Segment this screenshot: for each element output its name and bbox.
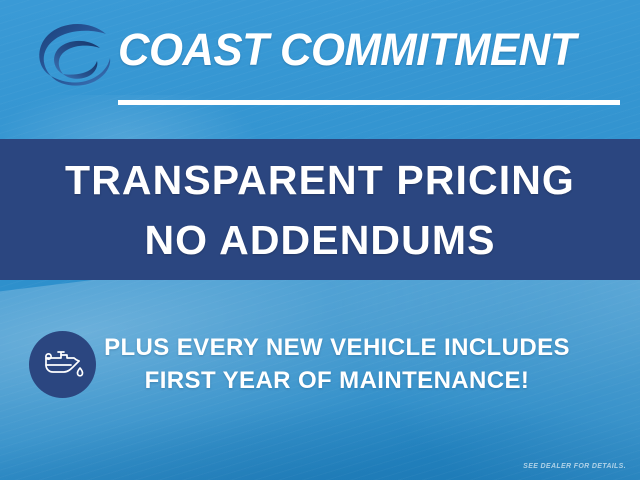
header-divider (118, 100, 620, 105)
promo-row: PLUS EVERY NEW VEHICLE INCLUDES FIRST YE… (0, 318, 640, 410)
promo-badge (29, 331, 96, 398)
oil-can-icon (41, 346, 85, 383)
headline-line-1: TRANSPARENT PRICING (65, 150, 575, 210)
ad-header: COAST COMMITMENT (0, 0, 640, 139)
page-title: COAST COMMITMENT (118, 22, 576, 78)
coast-commitment-ad: COAST COMMITMENT TRANSPARENT PRICING NO … (0, 0, 640, 480)
coast-wave-logo-icon (28, 18, 118, 94)
promo-line-2: FIRST YEAR OF MAINTENANCE! (96, 364, 578, 397)
promo-line-1: PLUS EVERY NEW VEHICLE INCLUDES (96, 331, 578, 364)
promo-text: PLUS EVERY NEW VEHICLE INCLUDES FIRST YE… (96, 331, 640, 397)
headline-line-2: NO ADDENDUMS (144, 210, 495, 270)
headline-banner: TRANSPARENT PRICING NO ADDENDUMS (0, 139, 640, 280)
disclaimer-text: SEE DEALER FOR DETAILS. (523, 463, 626, 470)
